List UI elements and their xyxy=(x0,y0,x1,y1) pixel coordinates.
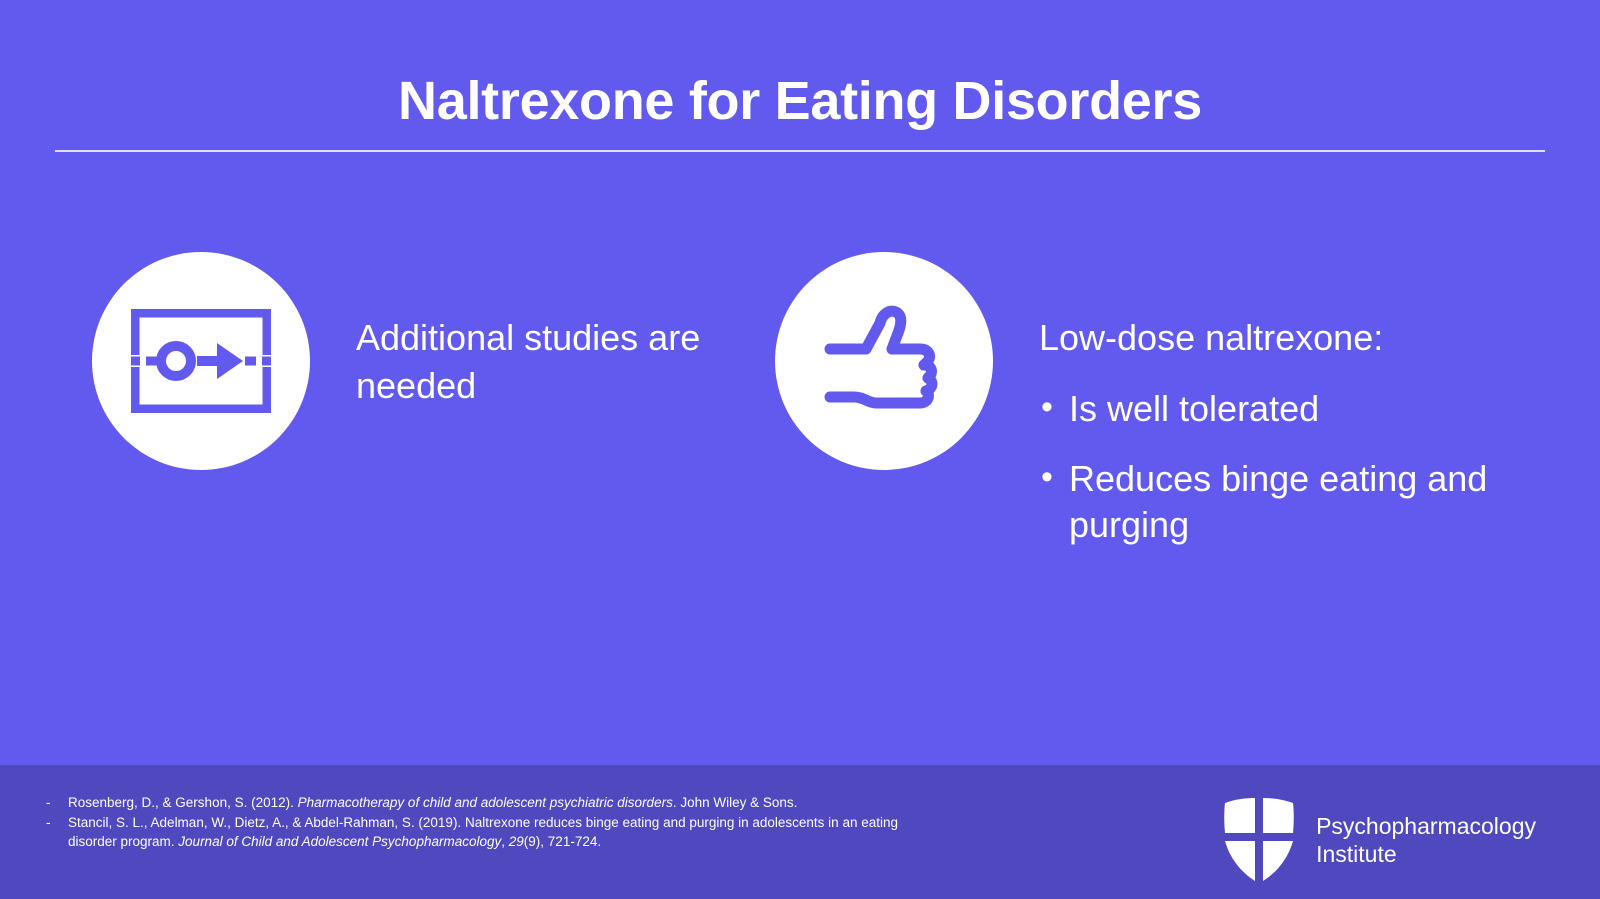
bullet-marker: • xyxy=(1041,386,1053,430)
column-left-lead: Additional studies are needed xyxy=(356,314,736,409)
reference-item: - Stancil, S. L., Adelman, W., Dietz, A.… xyxy=(46,813,946,851)
column-right-text: Low-dose naltrexone: • Is well tolerated… xyxy=(1039,314,1539,548)
thumbs-up-icon xyxy=(775,252,993,470)
reference-item: - Rosenberg, D., & Gershon, S. (2012). P… xyxy=(46,793,946,812)
reference-text: Stancil, S. L., Adelman, W., Dietz, A., … xyxy=(68,813,946,851)
reference-marker: - xyxy=(46,793,68,812)
list-item: • Is well tolerated xyxy=(1039,386,1539,432)
column-right-lead: Low-dose naltrexone: xyxy=(1039,314,1539,362)
shield-logo xyxy=(1222,797,1296,883)
references-list: - Rosenberg, D., & Gershon, S. (2012). P… xyxy=(46,793,946,852)
reference-marker: - xyxy=(46,813,68,832)
column-left-text: Additional studies are needed xyxy=(356,314,736,421)
list-item: • Reduces binge eating and purging xyxy=(1039,456,1539,548)
process-flow-icon xyxy=(92,252,310,470)
list-item-label: Is well tolerated xyxy=(1069,388,1319,429)
reference-text: Rosenberg, D., & Gershon, S. (2012). Pha… xyxy=(68,793,946,812)
content-area: Additional studies are needed xyxy=(0,244,1600,664)
brand-lockup: Psychopharmacology Institute xyxy=(1222,797,1536,883)
list-item-label: Reduces binge eating and purging xyxy=(1069,458,1487,545)
page-title: Naltrexone for Eating Disorders xyxy=(0,72,1600,131)
benefits-list: • Is well tolerated • Reduces binge eati… xyxy=(1039,386,1539,548)
bullet-marker: • xyxy=(1041,456,1053,500)
title-divider xyxy=(55,150,1545,152)
slide: Naltrexone for Eating Disorders xyxy=(0,0,1600,899)
footer-bar: - Rosenberg, D., & Gershon, S. (2012). P… xyxy=(0,765,1600,899)
brand-name: Psychopharmacology Institute xyxy=(1316,812,1536,868)
